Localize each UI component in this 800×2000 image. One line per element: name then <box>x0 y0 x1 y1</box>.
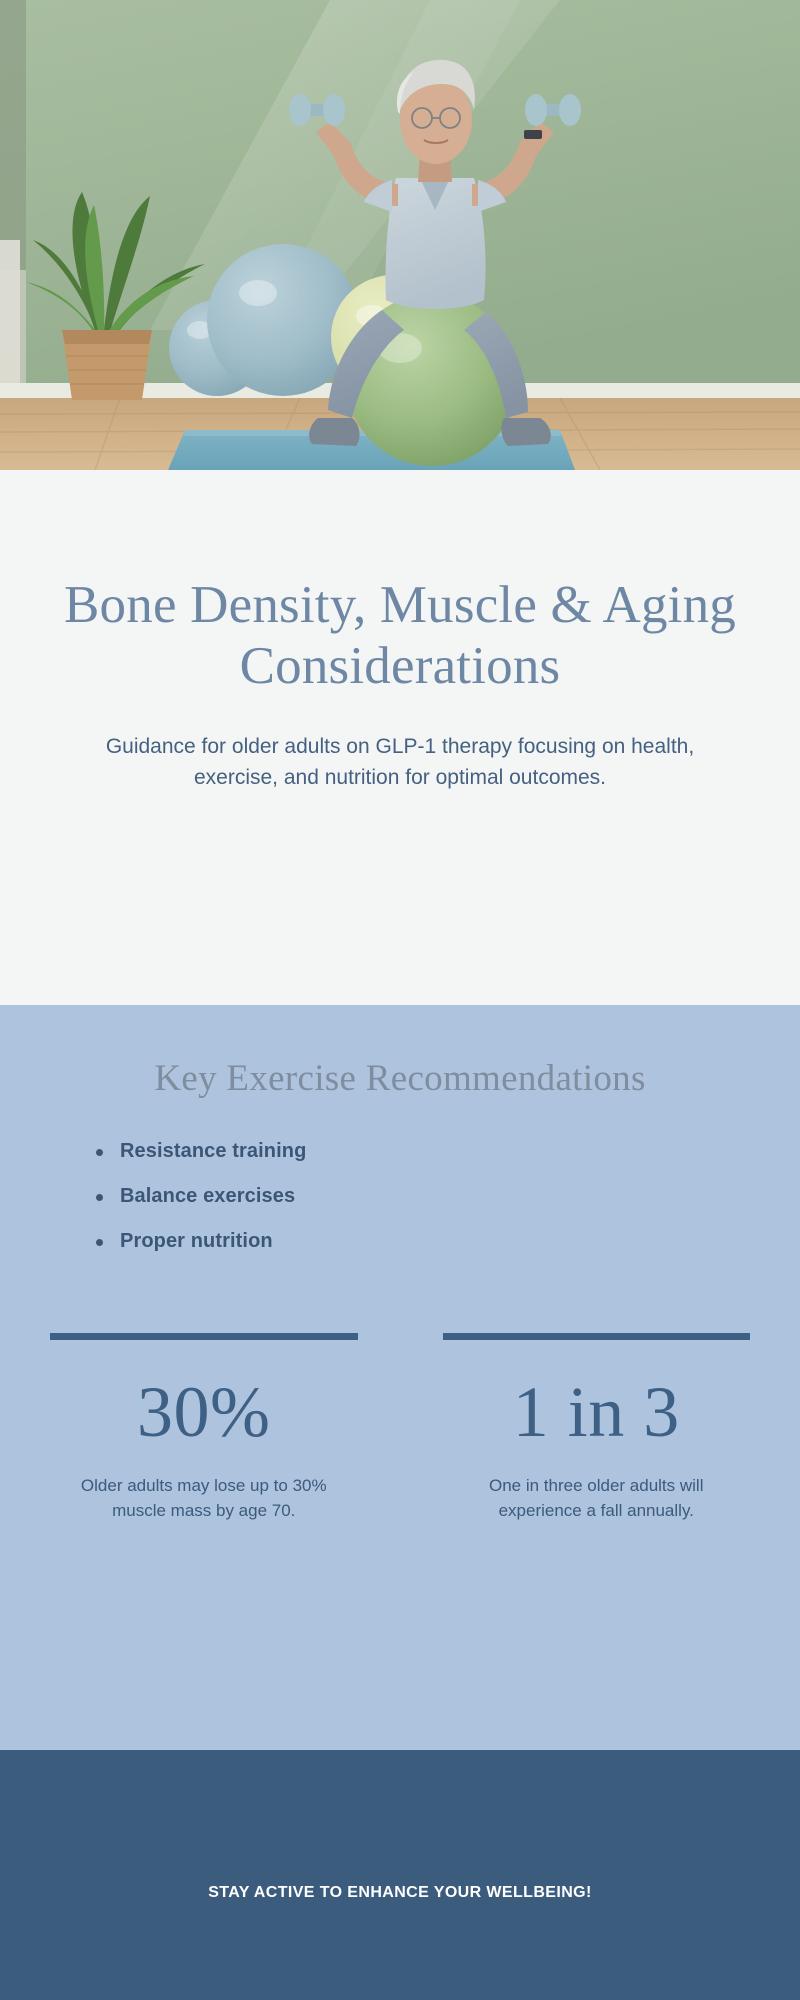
footer-call-to-action: STAY ACTIVE TO ENHANCE YOUR WELLBEING! <box>208 1884 592 1902</box>
stat-value: 30% <box>50 1376 358 1448</box>
list-item: Resistance training <box>90 1140 750 1163</box>
section-heading-recommendations: Key Exercise Recommendations <box>50 1057 750 1100</box>
stat-divider-rule <box>50 1333 358 1340</box>
stat-block: 1 in 3 One in three older adults will ex… <box>443 1333 751 1523</box>
recommendations-section: Key Exercise Recommendations Resistance … <box>0 1005 800 1750</box>
page-title: Bone Density, Muscle & Aging Considerati… <box>58 575 742 698</box>
page-subtitle: Guidance for older adults on GLP-1 thera… <box>58 731 742 794</box>
stat-block: 30% Older adults may lose up to 30% musc… <box>50 1333 358 1523</box>
left-shoe <box>309 418 359 446</box>
hero-illustration <box>0 0 800 470</box>
stat-caption: One in three older adults will experienc… <box>443 1474 751 1523</box>
recommendation-list: Resistance training Balance exercises Pr… <box>50 1140 750 1253</box>
stat-value: 1 in 3 <box>443 1376 751 1448</box>
infographic-page: Bone Density, Muscle & Aging Considerati… <box>0 0 800 2000</box>
wristwatch <box>524 130 542 139</box>
stat-divider-rule <box>443 1333 751 1340</box>
right-shoe <box>501 418 550 446</box>
list-item: Balance exercises <box>90 1185 750 1208</box>
list-item: Proper nutrition <box>90 1230 750 1253</box>
title-section: Bone Density, Muscle & Aging Considerati… <box>0 470 800 1005</box>
stats-row: 30% Older adults may lose up to 30% musc… <box>50 1333 750 1523</box>
footer-banner: STAY ACTIVE TO ENHANCE YOUR WELLBEING! <box>0 1750 800 2000</box>
stat-caption: Older adults may lose up to 30% muscle m… <box>50 1474 358 1523</box>
hero-image <box>0 0 800 470</box>
